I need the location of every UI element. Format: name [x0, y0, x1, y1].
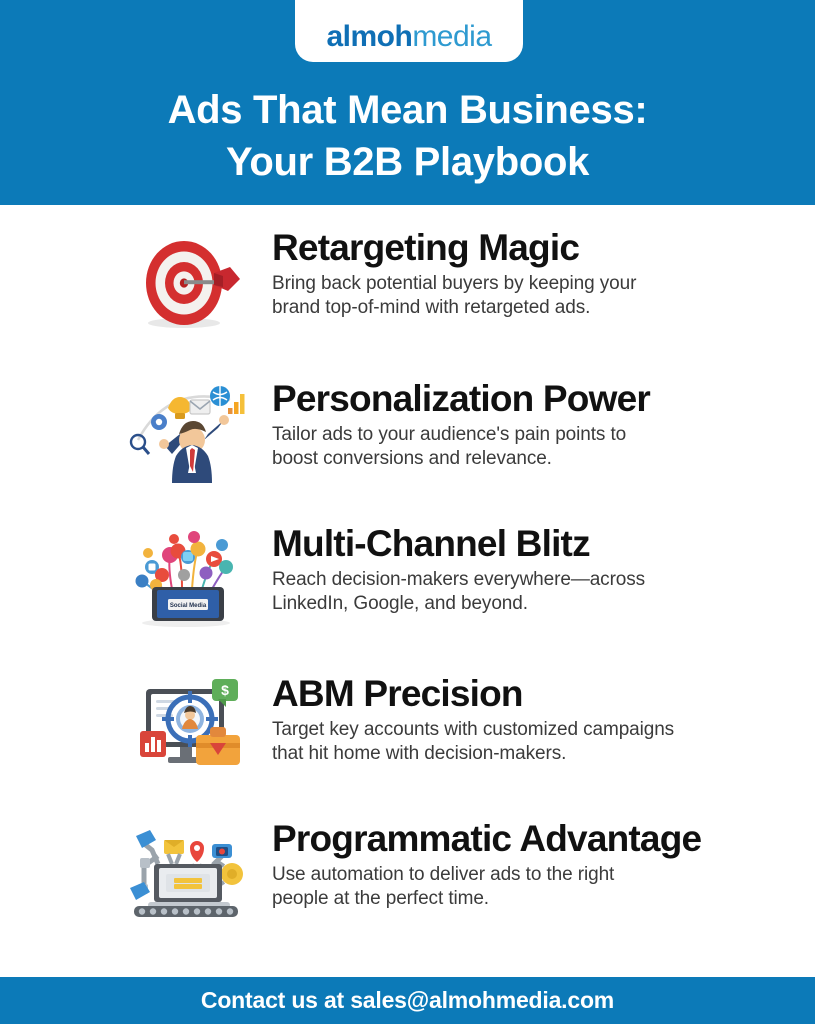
list-item-description: Use automation to deliver ads to the rig… [272, 863, 795, 911]
brand-logo-badge: almohmedia [295, 0, 523, 62]
list-item-title: Programmatic Advantage [272, 818, 795, 860]
social-media-tablet-icon: Social Media [128, 523, 248, 628]
list-item-description-line-1: Use automation to deliver ads to the rig… [272, 864, 614, 885]
header-band: almohmedia Ads That Mean Business: Your … [0, 0, 815, 205]
list-item-description-line-1: Target key accounts with customized camp… [272, 719, 674, 740]
list-item-retargeting-magic: Retargeting Magic Bring back potential b… [0, 227, 815, 332]
page-title-line-2: Your B2B Playbook [0, 136, 815, 188]
svg-text:Social Media: Social Media [170, 603, 207, 609]
list-item-title: ABM Precision [272, 673, 795, 715]
list-item-title: Multi-Channel Blitz [272, 523, 795, 565]
list-item-description-line-1: Bring back potential buyers by keeping y… [272, 273, 636, 294]
brand-logo-text: almohmedia [326, 22, 491, 52]
contact-text: Contact us at sales@almohmedia.com [201, 987, 614, 1014]
list-item-text: Programmatic Advantage Use automation to… [248, 818, 815, 911]
list-item-programmatic-advantage: Programmatic Advantage Use automation to… [0, 818, 815, 923]
brand-logo-bold: almoh [326, 20, 412, 53]
list-item-description: Tailor ads to your audience's pain point… [272, 423, 795, 471]
list-item-personalization-power: Personalization Power Tailor ads to your… [0, 378, 815, 483]
dart-target-icon [128, 227, 248, 332]
list-item-description-line-2: that hit home with decision-makers. [272, 743, 566, 764]
list-item-description: Reach decision-makers everywhere—across … [272, 568, 795, 616]
list-item-text: Multi-Channel Blitz Reach decision-maker… [248, 523, 815, 616]
list-item-description-line-2: brand top-of-mind with retargeted ads. [272, 297, 590, 318]
list-item-description-line-1: Tailor ads to your audience's pain point… [272, 424, 626, 445]
list-item-description: Bring back potential buyers by keeping y… [272, 272, 795, 320]
page-title: Ads That Mean Business: Your B2B Playboo… [0, 84, 815, 188]
list-item-title: Retargeting Magic [272, 227, 795, 269]
list-item-abm-precision: $ ABM Precision Target key account [0, 673, 815, 778]
list-item-text: Retargeting Magic Bring back potential b… [248, 227, 815, 320]
list-item-description-line-2: LinkedIn, Google, and beyond. [272, 593, 528, 614]
list-item-text: Personalization Power Tailor ads to your… [248, 378, 815, 471]
list-item-description-line-2: people at the perfect time. [272, 888, 489, 909]
page-title-line-1: Ads That Mean Business: [0, 84, 815, 136]
svg-text:$: $ [221, 682, 229, 698]
list-item-multi-channel-blitz: Social Media Multi-Channel Blitz Reach d… [0, 523, 815, 628]
list-item-description: Target key accounts with customized camp… [272, 718, 795, 766]
footer-band: Contact us at sales@almohmedia.com [0, 977, 815, 1024]
monitor-target-person-icon: $ [128, 673, 248, 778]
brand-logo-light: media [412, 20, 491, 53]
automation-conveyor-icon [128, 818, 248, 923]
list-item-text: ABM Precision Target key accounts with c… [248, 673, 815, 766]
infographic-poster: almohmedia Ads That Mean Business: Your … [0, 0, 815, 1024]
list-item-title: Personalization Power [272, 378, 795, 420]
list-item-description-line-2: boost conversions and relevance. [272, 448, 552, 469]
list-item-description-line-1: Reach decision-makers everywhere—across [272, 569, 645, 590]
businessman-celebrating-icon [128, 378, 248, 483]
